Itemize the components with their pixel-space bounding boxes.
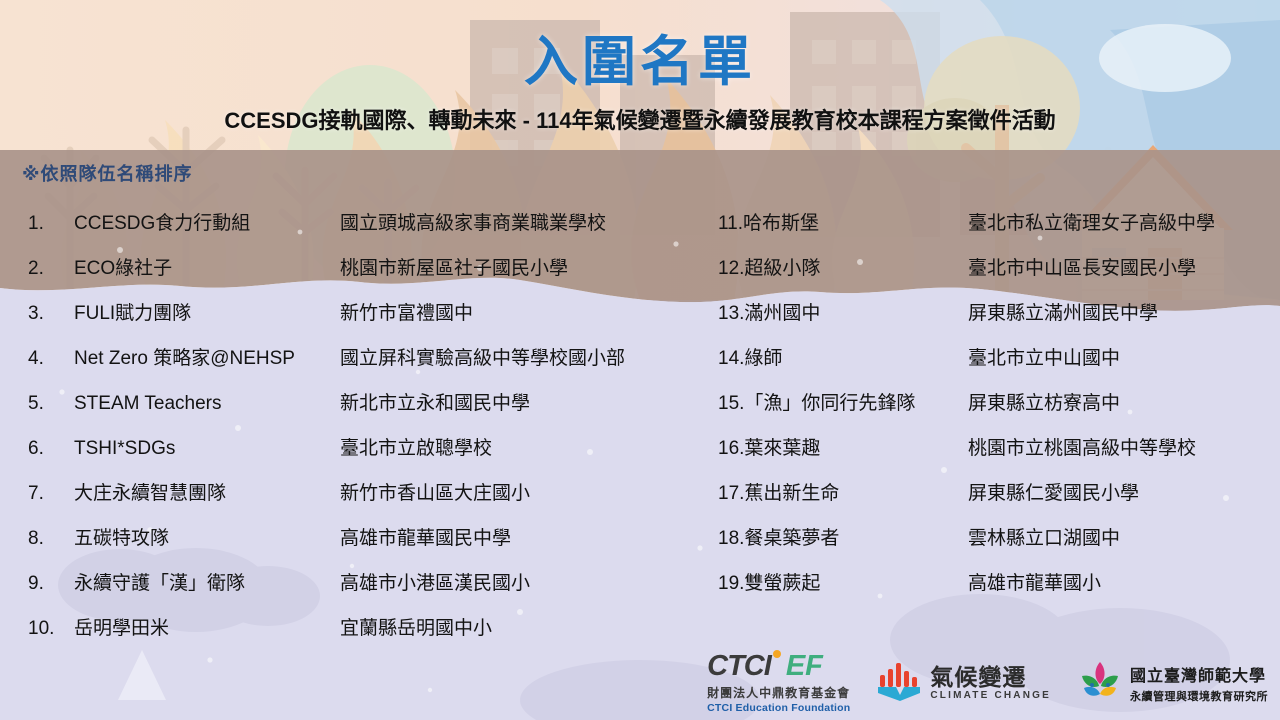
list-item-team: 18.餐桌築夢者: [718, 523, 968, 550]
list-item: 4.Net Zero 策略家@NEHSP國立屏科實驗高級中等學校國小部: [28, 343, 660, 388]
ntnu-text: 國立臺灣師範大學 永續管理與環境教育研究所: [1130, 662, 1268, 704]
list-item-team: 大庄永續智慧團隊: [74, 478, 340, 505]
climate-change-logo: 氣候變遷 CLIMATE CHANGE: [876, 661, 1051, 706]
finalist-list-left: 1.CCESDG食力行動組國立頭城高級家事商業職業學校 2.ECO綠社子桃園市新…: [0, 208, 660, 658]
list-item-school: 屏東縣立枋寮高中: [968, 388, 1260, 415]
list-item-team: 岳明學田米: [74, 613, 340, 640]
list-item-school: 國立頭城高級家事商業職業學校: [340, 208, 660, 235]
list-item-number: 9.: [28, 573, 74, 595]
list-item-team: 13.滿州國中: [718, 298, 968, 325]
ntnu-emblem-icon: [1077, 658, 1123, 709]
ctci-chinese-name: 財團法人中鼎教育基金會: [707, 684, 850, 701]
list-item: 19.雙螢蕨起高雄市龍華國小: [718, 568, 1260, 613]
list-item-school: 桃園市立桃園高級中等學校: [968, 433, 1260, 460]
ntnu-logo: 國立臺灣師範大學 永續管理與環境教育研究所: [1077, 658, 1268, 709]
list-item-school: 新北市立永和國民中學: [340, 388, 660, 415]
list-item: 12.超級小隊臺北市中山區長安國民小學: [718, 253, 1260, 298]
list-item-team: CCESDG食力行動組: [74, 208, 340, 235]
list-item: 5.STEAM Teachers新北市立永和國民中學: [28, 388, 660, 433]
ntnu-institute-name: 永續管理與環境教育研究所: [1130, 688, 1268, 704]
list-item: 15.「漁」你同行先鋒隊屏東縣立枋寮高中: [718, 388, 1260, 433]
ntnu-university-name: 國立臺灣師範大學: [1130, 662, 1268, 686]
list-item-number: 1.: [28, 213, 74, 235]
list-item-team: 16.葉來葉趣: [718, 433, 968, 460]
list-item-school: 臺北市中山區長安國民小學: [968, 253, 1260, 280]
ctci-ef-logo: CTCI EF 財團法人中鼎教育基金會 CTCI Education Found…: [707, 652, 850, 714]
list-item-school: 臺北市立啟聰學校: [340, 433, 660, 460]
list-item-school: 臺北市私立衛理女子高級中學: [968, 208, 1260, 235]
list-item-team: 五碳特攻隊: [74, 523, 340, 550]
finalist-list-right: 11.哈布斯堡臺北市私立衛理女子高級中學 12.超級小隊臺北市中山區長安國民小學…: [660, 208, 1260, 658]
list-item-team: ECO綠社子: [74, 253, 340, 280]
list-item: 1.CCESDG食力行動組國立頭城高級家事商業職業學校: [28, 208, 660, 253]
list-item-team: 15.「漁」你同行先鋒隊: [718, 388, 968, 415]
list-item: 6.TSHI*SDGs臺北市立啟聰學校: [28, 433, 660, 478]
list-item-number: 8.: [28, 528, 74, 550]
climate-bars-icon: [876, 661, 924, 706]
list-item: 11.哈布斯堡臺北市私立衛理女子高級中學: [718, 208, 1260, 253]
header: 入圍名單 CCESDG接軌國際、轉動未來 - 114年氣候變遷暨永續發展教育校本…: [0, 0, 1280, 135]
list-item-school: 屏東縣仁愛國民小學: [968, 478, 1260, 505]
list-item: 8.五碳特攻隊高雄市龍華國民中學: [28, 523, 660, 568]
list-item-school: 高雄市龍華國民中學: [340, 523, 660, 550]
list-item-school: 臺北市立中山國中: [968, 343, 1260, 370]
list-item-number: 2.: [28, 258, 74, 280]
list-item-team: 14.綠師: [718, 343, 968, 370]
finalist-lists: 1.CCESDG食力行動組國立頭城高級家事商業職業學校 2.ECO綠社子桃園市新…: [0, 208, 1280, 658]
list-item: 3.FULI賦力團隊新竹市富禮國中: [28, 298, 660, 343]
ctci-english-name: CTCI Education Foundation: [707, 702, 850, 714]
climate-change-text: 氣候變遷 CLIMATE CHANGE: [930, 665, 1051, 701]
list-item-team: 12.超級小隊: [718, 253, 968, 280]
list-item-school: 高雄市龍華國小: [968, 568, 1260, 595]
list-item-team: STEAM Teachers: [74, 393, 340, 415]
list-item-team: 17.蕉出新生命: [718, 478, 968, 505]
list-item-number: 10.: [28, 618, 74, 640]
list-item: 9.永續守護「漢」衛隊高雄市小港區漢民國小: [28, 568, 660, 613]
list-item: 7.大庄永續智慧團隊新竹市香山區大庄國小: [28, 478, 660, 523]
list-item-team: FULI賦力團隊: [74, 298, 340, 325]
page-subtitle: CCESDG接軌國際、轉動未來 - 114年氣候變遷暨永續發展教育校本課程方案徵…: [0, 103, 1280, 135]
list-item-team: TSHI*SDGs: [74, 438, 340, 460]
list-item-team: 19.雙螢蕨起: [718, 568, 968, 595]
list-item: 2.ECO綠社子桃園市新屋區社子國民小學: [28, 253, 660, 298]
list-item-number: 3.: [28, 303, 74, 325]
footer-logos: CTCI EF 財團法人中鼎教育基金會 CTCI Education Found…: [707, 652, 1268, 714]
list-item: 10.岳明學田米宜蘭縣岳明國中小: [28, 613, 660, 658]
list-item-school: 新竹市富禮國中: [340, 298, 660, 325]
list-item-team: Net Zero 策略家@NEHSP: [74, 343, 340, 370]
list-item-school: 國立屏科實驗高級中等學校國小部: [340, 343, 660, 370]
ctci-word: CTCI: [707, 652, 771, 681]
list-item: 17.蕉出新生命屏東縣仁愛國民小學: [718, 478, 1260, 523]
list-item-team: 永續守護「漢」衛隊: [74, 568, 340, 595]
list-item-school: 屏東縣立滿州國民中學: [968, 298, 1260, 325]
list-item-school: 桃園市新屋區社子國民小學: [340, 253, 660, 280]
ctci-wordmark: CTCI EF: [707, 652, 823, 681]
list-item-number: 4.: [28, 348, 74, 370]
list-item-number: 5.: [28, 393, 74, 415]
ctci-dot-icon: [773, 650, 781, 658]
list-item-number: 6.: [28, 438, 74, 460]
list-item: 16.葉來葉趣桃園市立桃園高級中等學校: [718, 433, 1260, 478]
climate-change-chinese: 氣候變遷: [930, 665, 1051, 690]
list-item-school: 高雄市小港區漢民國小: [340, 568, 660, 595]
sort-note: ※依照隊伍名稱排序: [22, 160, 193, 186]
list-item-school: 宜蘭縣岳明國中小: [340, 613, 660, 640]
list-item-school: 新竹市香山區大庄國小: [340, 478, 660, 505]
list-item-team: 11.哈布斯堡: [718, 208, 968, 235]
list-item: 13.滿州國中屏東縣立滿州國民中學: [718, 298, 1260, 343]
page-title: 入圍名單: [0, 0, 1280, 91]
list-item-school: 雲林縣立口湖國中: [968, 523, 1260, 550]
ctci-ef-word: EF: [786, 652, 823, 681]
climate-change-english: CLIMATE CHANGE: [930, 690, 1051, 701]
list-item: 18.餐桌築夢者雲林縣立口湖國中: [718, 523, 1260, 568]
list-item-number: 7.: [28, 483, 74, 505]
list-item: 14.綠師臺北市立中山國中: [718, 343, 1260, 388]
